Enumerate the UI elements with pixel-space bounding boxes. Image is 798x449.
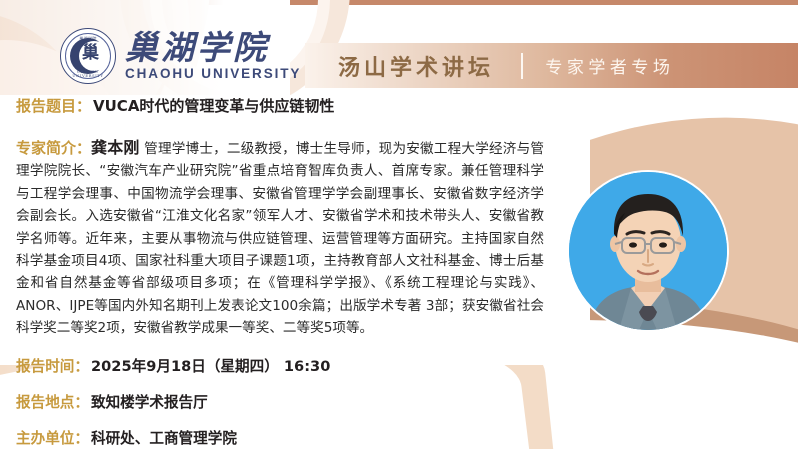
lecture-organizer-value: 科研处、工商管理学院: [91, 427, 237, 448]
speaker-name: 龚本刚: [91, 138, 140, 157]
speaker-bio-body: 管理学博士，二级教授，博士生导师，现为安徽工程大学经济与管理学院院长、“安徽汽车…: [16, 141, 544, 336]
lecture-poster: 巢湖学院 巢 CHAOHU UNIVERSITY 巢湖学院 CHAOHU UNI…: [0, 0, 798, 449]
top-accent-strip: [0, 0, 798, 5]
lecture-title-value: VUCA时代的管理变革与供应链韧性: [93, 95, 334, 116]
speaker-portrait: [569, 172, 727, 330]
speaker-portrait-illustration: [569, 172, 727, 330]
lecture-details: 报告时间： 2025年9月18日（星期四） 16:30 报告地点： 致知楼学术报…: [16, 355, 330, 448]
university-logo-text: 巢湖学院 CHAOHU UNIVERSITY: [125, 31, 301, 81]
series-banner-title: 汤山学术讲坛: [338, 50, 494, 82]
series-banner: 汤山学术讲坛 专家学者专场: [305, 43, 798, 88]
university-name-cn: 巢湖学院: [125, 31, 301, 65]
seal-center-glyph: 巢: [82, 45, 99, 62]
speaker-bio-text: 龚本刚 管理学博士，二级教授，博士生导师，现为安徽工程大学经济与管理学院院长、“…: [16, 137, 544, 340]
lecture-location-value: 致知楼学术报告厅: [91, 391, 208, 412]
lecture-location-label: 报告地点：: [16, 391, 89, 412]
speaker-bio-label: 专家简介：: [16, 137, 91, 159]
speaker-bio-row: 专家简介： 龚本刚 管理学博士，二级教授，博士生导师，现为安徽工程大学经济与管理…: [16, 137, 544, 340]
university-logo: 巢湖学院 巢 CHAOHU UNIVERSITY 巢湖学院 CHAOHU UNI…: [60, 28, 301, 84]
banner-divider: [521, 53, 523, 79]
university-name-en: CHAOHU UNIVERSITY: [125, 66, 301, 81]
seal-arc-bottom-text: CHAOHU UNIVERSITY: [61, 70, 115, 78]
university-seal-icon: 巢湖学院 巢 CHAOHU UNIVERSITY: [60, 28, 116, 84]
lecture-organizer-row: 主办单位： 科研处、工商管理学院: [16, 427, 330, 448]
lecture-time-value: 2025年9月18日（星期四） 16:30: [91, 355, 330, 376]
lecture-location-row: 报告地点： 致知楼学术报告厅: [16, 391, 330, 412]
lecture-organizer-label: 主办单位：: [16, 427, 89, 448]
lecture-time-row: 报告时间： 2025年9月18日（星期四） 16:30: [16, 355, 330, 376]
lecture-time-label: 报告时间：: [16, 355, 89, 376]
lecture-title-row: 报告题目： VUCA时代的管理变革与供应链韧性: [16, 95, 334, 116]
lecture-title-label: 报告题目：: [16, 95, 91, 116]
series-banner-subtitle: 专家学者专场: [545, 53, 674, 78]
